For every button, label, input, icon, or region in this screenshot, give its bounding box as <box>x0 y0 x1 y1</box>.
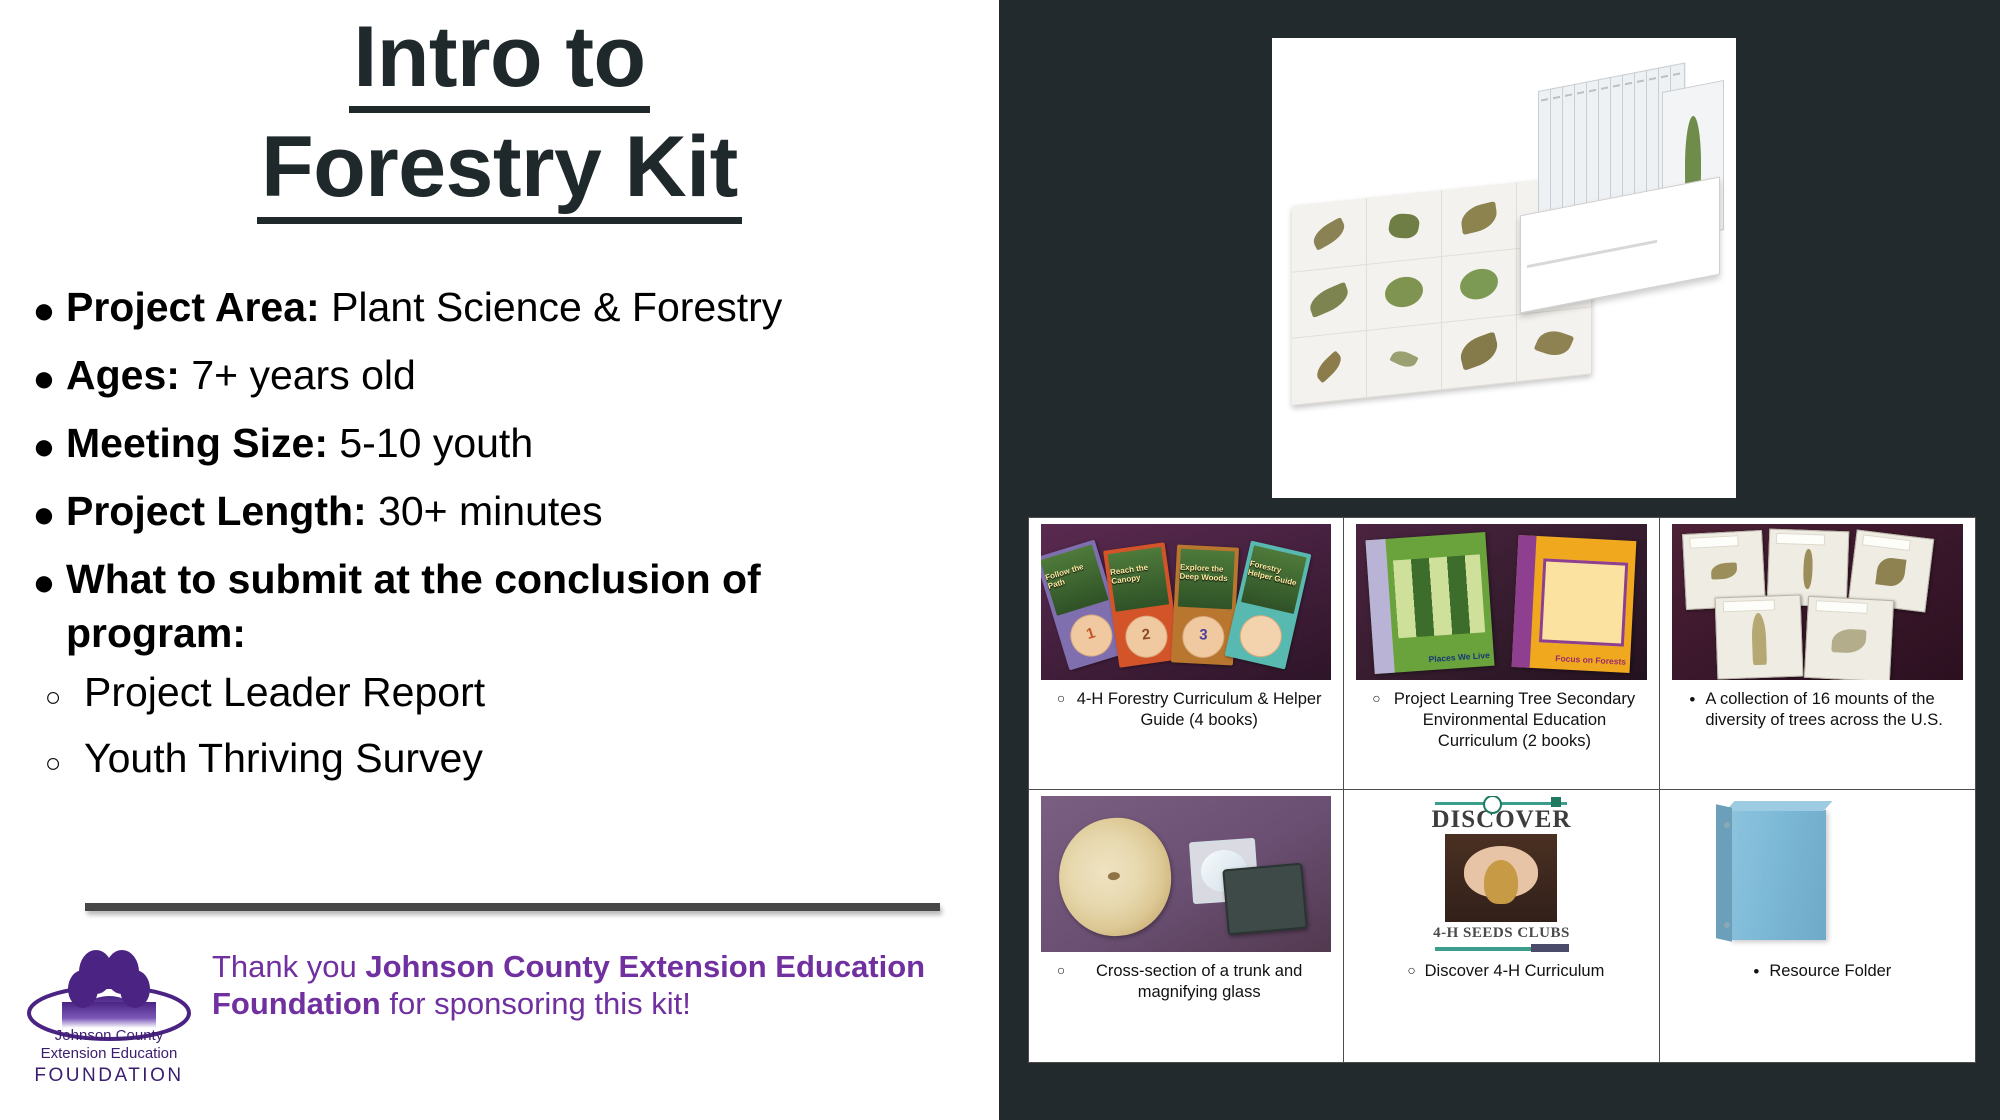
three-ring-binder <box>1730 810 1826 940</box>
hero-photo-inner <box>1272 38 1736 498</box>
sub-bullet-text: Project Leader Report <box>84 666 982 719</box>
svg-text:FOUNDATION: FOUNDATION <box>34 1065 183 1086</box>
table-row: Places We Live Focus on Forests ○ Projec… <box>1344 518 1659 790</box>
mount-display-box-image <box>1520 74 1720 294</box>
bullet-text: Ages: 7+ years old <box>66 348 906 402</box>
johnson-county-extension-education-foundation-logo: Johnson County Extension Education FOUND… <box>20 940 198 1100</box>
horizontal-divider <box>85 903 940 911</box>
sponsor-thank-you-text: Thank you Johnson County Extension Educa… <box>212 940 972 1022</box>
bullet-text: What to submit at the conclusion of prog… <box>66 552 906 660</box>
slide-root: Intro to Forestry Kit ● Project Area: Pl… <box>0 0 2000 1120</box>
clover-icon <box>1435 802 1567 805</box>
caption: ○ Cross-section of a trunk and magnifyin… <box>1035 952 1337 1062</box>
caption: ○ Discover 4-H Curriculum <box>1350 952 1652 1062</box>
bullet-icon: ● <box>22 280 66 342</box>
left-content-pane: Intro to Forestry Kit ● Project Area: Pl… <box>0 0 999 1120</box>
right-image-panel: Follow the Path Reach the Canopy Explore… <box>999 0 2000 1120</box>
bullet-label: Project Length: <box>66 488 367 534</box>
list-item: ● Meeting Size: 5-10 youth <box>22 416 982 478</box>
list-item: ● Ages: 7+ years old <box>22 348 982 410</box>
thanks-suffix: for sponsoring this kit! <box>381 986 691 1021</box>
leaf-mount-cards-image <box>1672 524 1963 680</box>
bullet-icon: ● <box>22 552 66 614</box>
table-row: • Resource Folder <box>1660 790 1975 1062</box>
discover-wordmark: DISCOVER <box>1432 807 1572 832</box>
list-item: ○ Project Leader Report <box>22 666 982 728</box>
magnifier-case <box>1222 863 1307 936</box>
title-line-1: Intro to <box>349 12 649 113</box>
hollow-bullet-icon: ○ <box>22 666 84 728</box>
svg-text:Extension Education: Extension Education <box>41 1045 178 1062</box>
page-title: Intro to Forestry Kit <box>0 12 999 224</box>
forestry-books-image: Follow the Path Reach the Canopy Explore… <box>1041 524 1331 680</box>
hollow-bullet-icon: ○ <box>1399 961 1425 979</box>
bullet-value: Plant Science & Forestry <box>320 284 783 330</box>
hollow-bullet-icon: ○ <box>22 732 84 794</box>
title-line-2: Forestry Kit <box>257 122 742 223</box>
caption-text: Resource Folder <box>1769 961 1891 982</box>
filled-bullet-icon: • <box>1679 689 1705 711</box>
table-row: ○ Cross-section of a trunk and magnifyin… <box>1029 790 1344 1062</box>
caption: • Resource Folder <box>1666 952 1969 1062</box>
bullet-text: Meeting Size: 5-10 youth <box>66 416 906 470</box>
list-item: ● Project Area: Plant Science & Forestry <box>22 280 982 342</box>
bullet-label: Ages: <box>66 352 180 398</box>
bullet-icon: ● <box>22 484 66 546</box>
hollow-bullet-icon: ○ <box>1363 689 1389 707</box>
caption: ○ 4-H Forestry Curriculum & Helper Guide… <box>1035 680 1337 789</box>
bullet-text: Project Area: Plant Science & Forestry <box>66 280 906 334</box>
trunk-cross-section-image <box>1041 796 1331 952</box>
discover-4h-curriculum-image: DISCOVER 4-H SEEDS CLUBS <box>1356 796 1646 952</box>
bullet-value: 5-10 youth <box>328 420 533 466</box>
resource-binder-image <box>1672 796 1963 952</box>
caption: • A collection of 16 mounts of the diver… <box>1666 680 1969 789</box>
kit-details-list: ● Project Area: Plant Science & Forestry… <box>22 280 982 794</box>
sponsor-footer: Johnson County Extension Education FOUND… <box>20 940 980 1100</box>
hands-with-seeds-photo <box>1445 834 1557 922</box>
thanks-prefix: Thank you <box>212 949 365 984</box>
hollow-bullet-icon: ○ <box>1048 961 1074 979</box>
hero-product-photo <box>1272 38 1736 498</box>
sub-bullet-text: Youth Thriving Survey <box>84 732 982 785</box>
project-learning-tree-books-image: Places We Live Focus on Forests <box>1356 524 1646 680</box>
discover-footer-rule <box>1435 947 1567 951</box>
table-row: • A collection of 16 mounts of the diver… <box>1660 518 1975 790</box>
discover-subtitle: 4-H SEEDS CLUBS <box>1433 925 1570 942</box>
bullet-value: 30+ minutes <box>367 488 603 534</box>
caption-text: Project Learning Tree Secondary Environm… <box>1389 689 1639 752</box>
list-item: ○ Youth Thriving Survey <box>22 732 982 794</box>
caption-text: Discover 4-H Curriculum <box>1425 961 1605 982</box>
submission-sub-list: ○ Project Leader Report ○ Youth Thriving… <box>22 666 982 794</box>
filled-bullet-icon: • <box>1743 961 1769 983</box>
bullet-icon: ● <box>22 348 66 410</box>
bullet-label: Meeting Size: <box>66 420 328 466</box>
svg-text:Johnson County: Johnson County <box>55 1027 164 1044</box>
caption-text: Cross-section of a trunk and magnifying … <box>1074 961 1324 1003</box>
bullet-value: 7+ years old <box>180 352 416 398</box>
hollow-bullet-icon: ○ <box>1048 689 1074 707</box>
bullet-text: Project Length: 30+ minutes <box>66 484 906 538</box>
list-item: ● What to submit at the conclusion of pr… <box>22 552 982 660</box>
list-item: ● Project Length: 30+ minutes <box>22 484 982 546</box>
kit-contents-table: Follow the Path Reach the Canopy Explore… <box>1028 517 1976 1063</box>
bullet-label: Project Area: <box>66 284 320 330</box>
caption-text: 4-H Forestry Curriculum & Helper Guide (… <box>1074 689 1324 731</box>
table-row: DISCOVER 4-H SEEDS CLUBS ○ Discover 4-H … <box>1344 790 1659 1062</box>
caption: ○ Project Learning Tree Secondary Enviro… <box>1350 680 1652 789</box>
caption-text: A collection of 16 mounts of the diversi… <box>1705 689 1955 731</box>
table-row: Follow the Path Reach the Canopy Explore… <box>1029 518 1344 790</box>
bullet-icon: ● <box>22 416 66 478</box>
